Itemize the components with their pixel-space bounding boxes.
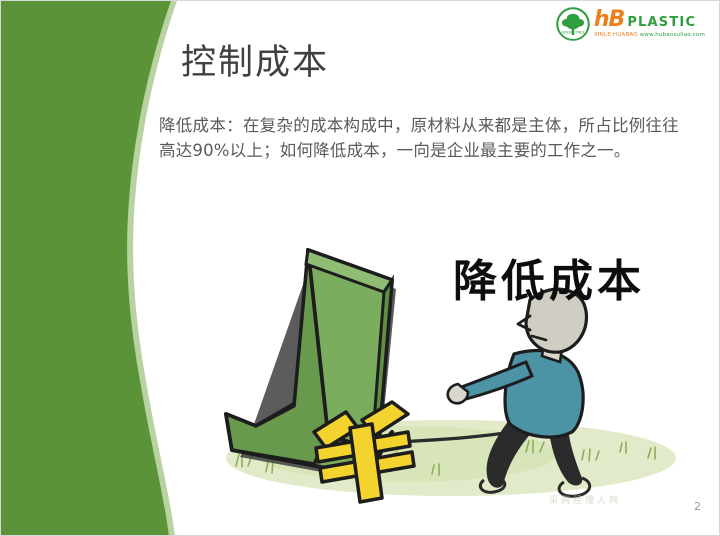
- tree-in-circle-icon: GREEN TREE: [556, 7, 590, 41]
- watermark-text: 采购经理人网: [549, 493, 621, 506]
- logo-tagline: XINLE HUABAO www.hubaosuliao.com: [594, 31, 705, 39]
- slide-body-text: 降低成本：在复杂的成本构成中，原材料从来都是主体，所占比例往往高达90%以上；如…: [159, 113, 679, 163]
- logo-brand-mark: hB: [594, 10, 624, 30]
- slide-canvas: GREEN TREE hB PLASTIC XINLE HUABAO www.h…: [0, 0, 720, 536]
- company-logo: GREEN TREE hB PLASTIC XINLE HUABAO www.h…: [556, 7, 705, 41]
- illustration-headline: 降低成本: [453, 257, 645, 307]
- svg-text:GREEN TREE: GREEN TREE: [561, 31, 585, 35]
- logo-tagline-name: XINLE HUABAO: [594, 32, 638, 38]
- slide-title: 控制成本: [181, 41, 329, 85]
- logo-brand-word: PLASTIC: [627, 16, 696, 29]
- page-number: 2: [694, 500, 701, 513]
- logo-tagline-url: www.hubaosuliao.com: [640, 32, 705, 38]
